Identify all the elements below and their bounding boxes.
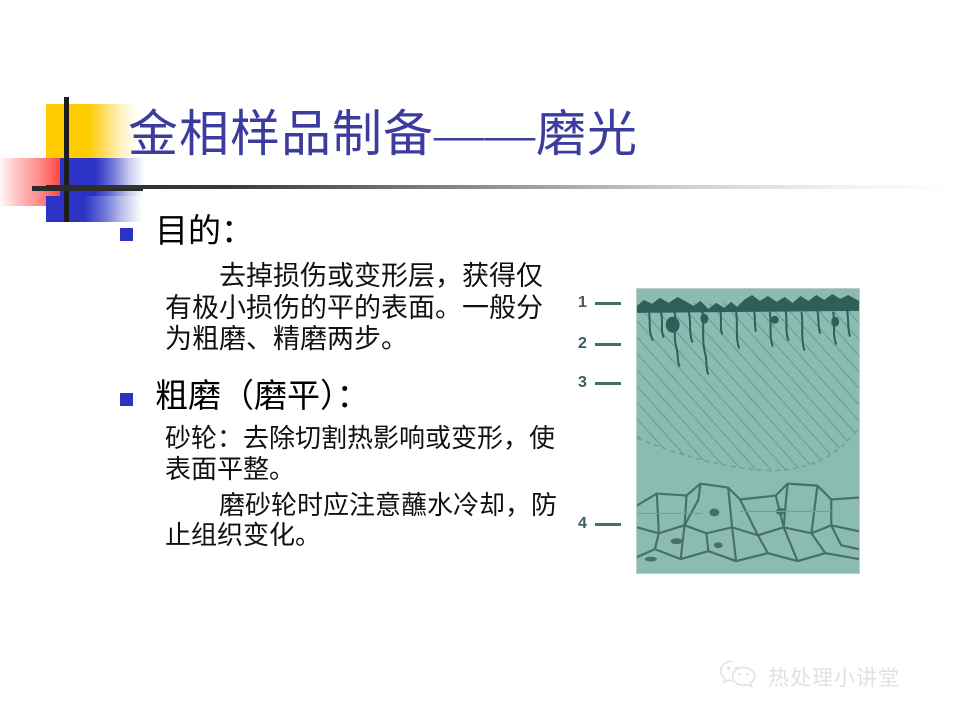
- leader-dash-icon: [595, 343, 621, 346]
- bullet-block-purpose: 目的： 去掉损伤或变形层，获得仅有极小损伤的平的表面。一般分为粗磨、精磨两步。: [120, 212, 565, 355]
- paragraph-rough-grinding-2: 磨砂轮时应注意蘸水冷却，防止组织变化。: [165, 491, 565, 551]
- footer-watermark: 热处理小讲堂: [718, 658, 900, 695]
- figure-label-1-text: 1: [578, 294, 587, 312]
- figure-label-group: 1 2 3 4: [578, 288, 638, 578]
- decorative-logo-mark: [18, 100, 143, 220]
- logo-vertical-rule: [64, 97, 69, 222]
- figure-cross-section: 1 2 3 4: [578, 288, 860, 578]
- figure-label-2: 2: [578, 335, 621, 353]
- leader-dash-icon: [595, 382, 621, 385]
- bullet-block-rough-grinding: 粗磨（磨平）： 砂轮：去除切割热影响或变形，使表面平整。 磨砂轮时应注意蘸水冷却…: [120, 377, 565, 551]
- footer-text: 热处理小讲堂: [768, 662, 900, 692]
- figure-label-1: 1: [578, 294, 621, 312]
- figure-canvas: [636, 288, 860, 574]
- bullet-heading-row: 目的：: [120, 212, 565, 253]
- bullet-heading-rough-grinding: 粗磨（磨平）：: [155, 377, 370, 418]
- figure-label-2-text: 2: [578, 335, 587, 353]
- slide-title: 金相样品制备——磨光: [128, 108, 638, 161]
- slide-body: 目的： 去掉损伤或变形层，获得仅有极小损伤的平的表面。一般分为粗磨、精磨两步。 …: [120, 212, 565, 555]
- leader-dash-icon: [595, 523, 621, 526]
- figure-label-3: 3: [578, 374, 621, 392]
- wechat-icon: [718, 658, 758, 695]
- title-underline-rule: [46, 185, 956, 189]
- paragraph-rough-grinding-1: 砂轮：去除切割热影响或变形，使表面平整。: [165, 424, 565, 484]
- bullet-heading-row: 粗磨（磨平）：: [120, 377, 565, 418]
- paragraph-purpose-1: 去掉损伤或变形层，获得仅有极小损伤的平的表面。一般分为粗磨、精磨两步。: [165, 261, 565, 355]
- figure-label-4: 4: [578, 515, 621, 533]
- square-bullet-icon: [120, 228, 133, 241]
- figure-label-3-text: 3: [578, 374, 587, 392]
- square-bullet-icon: [120, 393, 133, 406]
- bullet-heading-purpose: 目的：: [155, 212, 254, 253]
- cross-section-svg: [637, 289, 859, 573]
- figure-label-4-text: 4: [578, 515, 587, 533]
- leader-dash-icon: [595, 302, 621, 305]
